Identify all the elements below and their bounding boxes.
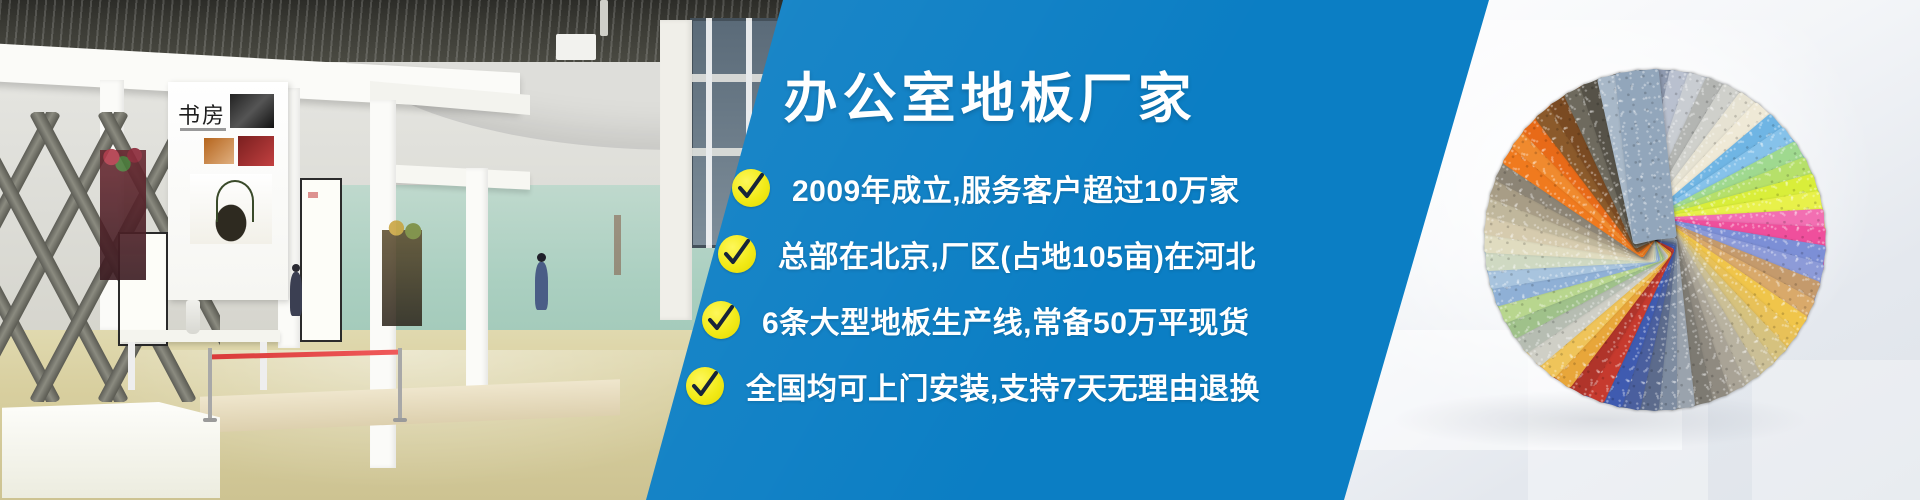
feature-list: 2009年成立,服务客户超过10万家 总部在北京,厂区(占地105亩)在河北 6… <box>640 160 1380 424</box>
list-item: 6条大型地板生产线,常备50万平现货 <box>702 292 1380 348</box>
feature-text: 全国均可上门安装,支持7天无理由退换 <box>746 364 1260 408</box>
promo-banner: 书房 办公室地板厂家 <box>0 0 1920 500</box>
check-circle-icon <box>732 169 770 207</box>
check-circle-icon <box>702 301 740 339</box>
list-item: 2009年成立,服务客户超过10万家 <box>732 160 1380 216</box>
feature-text: 2009年成立,服务客户超过10万家 <box>792 166 1239 210</box>
list-item: 全国均可上门安装,支持7天无理由退换 <box>686 358 1380 414</box>
page-title: 办公室地板厂家 <box>640 72 1340 126</box>
feature-text: 6条大型地板生产线,常备50万平现货 <box>762 298 1249 342</box>
check-circle-icon <box>686 367 724 405</box>
list-item: 总部在北京,厂区(占地105亩)在河北 <box>718 226 1380 282</box>
feature-text: 总部在北京,厂区(占地105亩)在河北 <box>778 232 1256 276</box>
check-circle-icon <box>718 235 756 273</box>
